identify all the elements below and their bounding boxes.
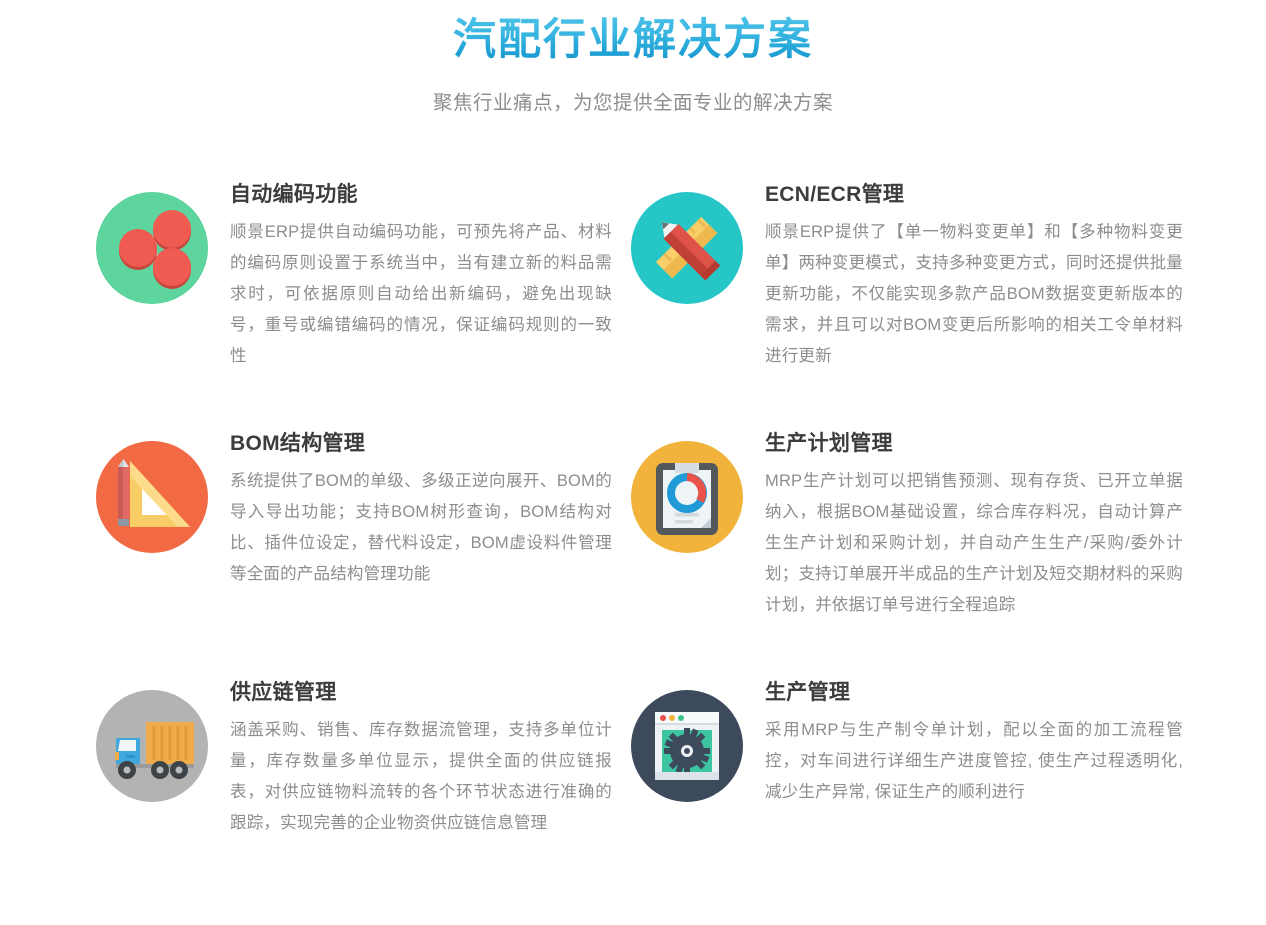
feature-title: 生产管理 [765, 679, 1183, 707]
feature-body: ECN/ECR管理 顺景ERP提供了【单一物料变更单】和【多种物料变更单】两种变… [765, 178, 1183, 372]
feature-body: 生产管理 采用MRP与生产制令单计划，配以全面的加工流程管控，对车间进行详细生产… [765, 676, 1183, 808]
delivery-truck-icon [96, 690, 208, 802]
page-subtitle: 聚焦行业痛点，为您提供全面专业的解决方案 [0, 86, 1266, 115]
feature-grid: 自动编码功能 顺景ERP提供自动编码功能，可预先将产品、材料的编码原则设置于系统… [0, 178, 1266, 925]
feature-item-supply-chain[interactable]: 供应链管理 涵盖采购、销售、库存数据流管理，支持多单位计量，库存数量多单位显示，… [96, 676, 631, 925]
share-nodes-icon [96, 192, 208, 304]
browser-gear-icon [631, 690, 743, 802]
feature-body: 自动编码功能 顺景ERP提供自动编码功能，可预先将产品、材料的编码原则设置于系统… [230, 178, 612, 372]
feature-description: 顺景ERP提供了【单一物料变更单】和【多种物料变更单】两种变更模式，支持多种变更… [765, 217, 1183, 372]
feature-description: 涵盖采购、销售、库存数据流管理，支持多单位计量，库存数量多单位显示，提供全面的供… [230, 715, 612, 839]
window-dot-red [660, 715, 666, 721]
feature-title: ECN/ECR管理 [765, 181, 1183, 209]
feature-item-auto-coding[interactable]: 自动编码功能 顺景ERP提供自动编码功能，可预先将产品、材料的编码原则设置于系统… [96, 178, 631, 427]
clipboard-chart-icon [631, 441, 743, 553]
page-title: 汽配行业解决方案 [453, 14, 813, 66]
feature-body: 供应链管理 涵盖采购、销售、库存数据流管理，支持多单位计量，库存数量多单位显示，… [230, 676, 612, 839]
feature-body: BOM结构管理 系统提供了BOM的单级、多级正逆向展开、BOM的导入导出功能；支… [230, 427, 612, 590]
solution-page: 汽配行业解决方案 聚焦行业痛点，为您提供全面专业的解决方案 自动编码功能 [0, 0, 1266, 859]
feature-title: 生产计划管理 [765, 430, 1183, 458]
triangle-ruler-pencil-icon [96, 441, 208, 553]
page-header: 汽配行业解决方案 聚焦行业痛点，为您提供全面专业的解决方案 [0, 0, 1266, 115]
feature-item-production-plan[interactable]: 生产计划管理 MRP生产计划可以把销售预测、现有存货、已开立单据纳入，根据BOM… [631, 427, 1184, 676]
feature-title: BOM结构管理 [230, 430, 612, 458]
feature-title: 自动编码功能 [230, 181, 612, 209]
feature-item-bom-structure[interactable]: BOM结构管理 系统提供了BOM的单级、多级正逆向展开、BOM的导入导出功能；支… [96, 427, 631, 676]
feature-description: 系统提供了BOM的单级、多级正逆向展开、BOM的导入导出功能；支持BOM树形查询… [230, 466, 612, 590]
window-dot-green [678, 715, 684, 721]
feature-description: 顺景ERP提供自动编码功能，可预先将产品、材料的编码原则设置于系统当中，当有建立… [230, 217, 612, 372]
feature-description: MRP生产计划可以把销售预测、现有存货、已开立单据纳入，根据BOM基础设置，综合… [765, 466, 1183, 621]
feature-item-production-mgmt[interactable]: 生产管理 采用MRP与生产制令单计划，配以全面的加工流程管控，对车间进行详细生产… [631, 676, 1184, 925]
pencil-ruler-icon [631, 192, 743, 304]
feature-title: 供应链管理 [230, 679, 612, 707]
feature-item-ecn-ecr[interactable]: ECN/ECR管理 顺景ERP提供了【单一物料变更单】和【多种物料变更单】两种变… [631, 178, 1184, 427]
feature-description: 采用MRP与生产制令单计划，配以全面的加工流程管控，对车间进行详细生产进度管控,… [765, 715, 1183, 808]
feature-body: 生产计划管理 MRP生产计划可以把销售预测、现有存货、已开立单据纳入，根据BOM… [765, 427, 1183, 621]
window-dot-yellow [669, 715, 675, 721]
